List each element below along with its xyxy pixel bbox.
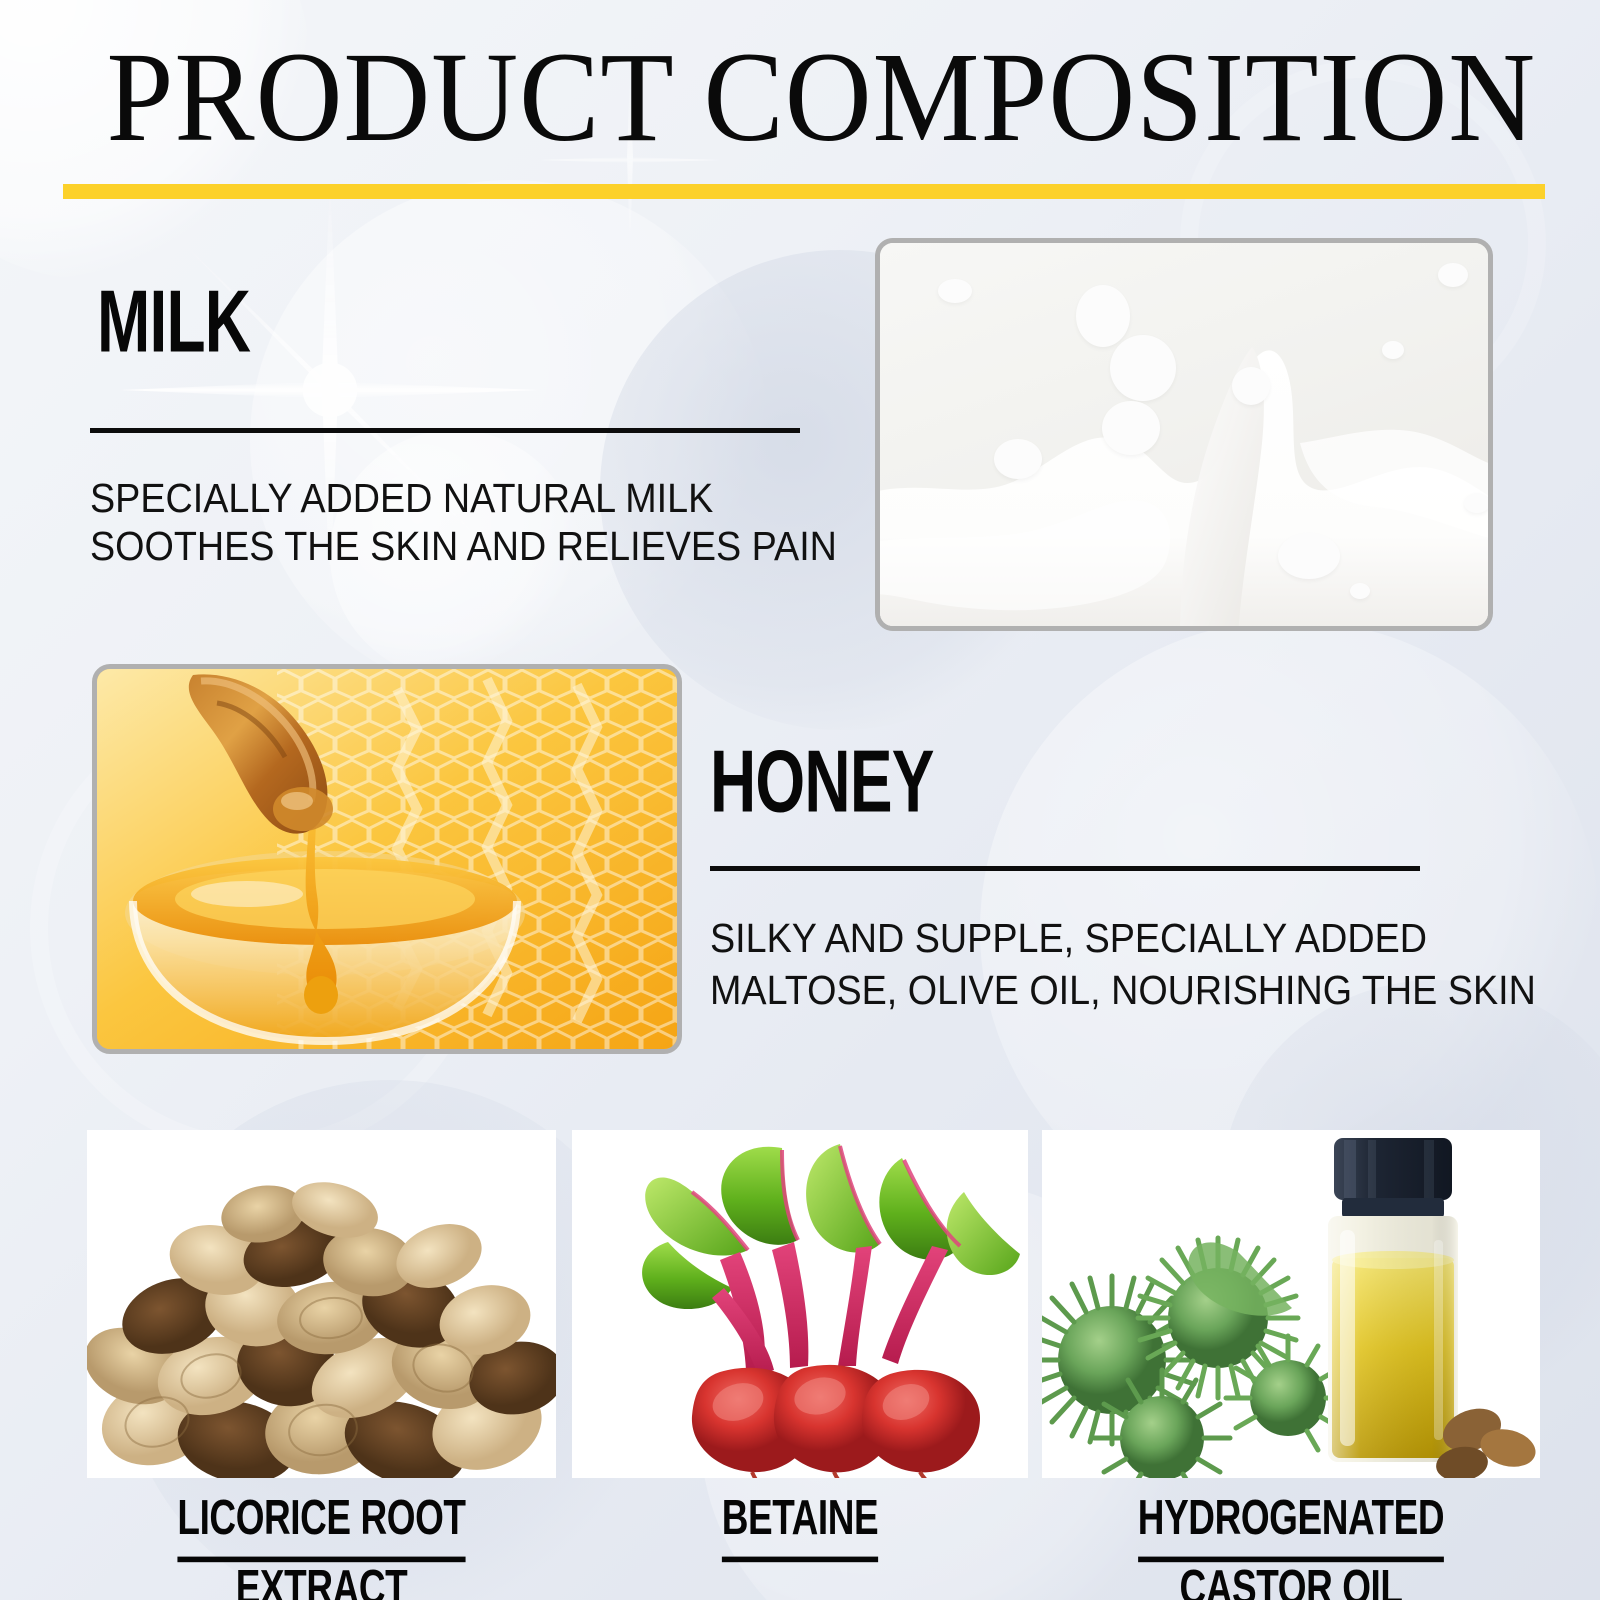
milk-image-card — [875, 238, 1493, 631]
honey-description-line: MALTOSE, OLIVE OIL, NOURISHING THE SKIN — [710, 964, 1536, 1016]
castor-caption: HYDROGENATED CASTOR OIL — [1042, 1488, 1540, 1600]
milk-description-line: SPECIALLY ADDED NATURAL MILK — [90, 474, 837, 522]
castor-oil-photo — [1042, 1130, 1540, 1478]
milk-divider — [90, 428, 800, 433]
licorice-root-photo — [87, 1130, 556, 1478]
caption-line: CASTOR OIL — [1082, 1554, 1500, 1600]
milk-splash-photo — [880, 243, 1488, 626]
honey-heading: HONEY — [710, 738, 934, 826]
honey-divider — [710, 866, 1420, 871]
milk-description: SPECIALLY ADDED NATURAL MILK SOOTHES THE… — [90, 474, 837, 570]
caption-line: EXTRACT — [125, 1554, 519, 1600]
product-composition-poster: PRODUCT COMPOSITION MILK SPECIALLY ADDED… — [0, 0, 1600, 1600]
honey-description-line: SILKY AND SUPPLE, SPECIALLY ADDED — [710, 912, 1536, 964]
honey-dipper-bowl-photo — [97, 669, 677, 1049]
caption-line: LICORICE ROOT — [125, 1484, 519, 1562]
title-accent-bar — [63, 184, 1545, 199]
betaine-caption: BETAINE — [572, 1488, 1028, 1558]
beetroot-photo — [572, 1130, 1028, 1478]
milk-description-line: SOOTHES THE SKIN AND RELIEVES PAIN — [90, 522, 837, 570]
bokeh-circle — [250, 180, 770, 700]
page-title: PRODUCT COMPOSITION — [107, 38, 1502, 156]
honey-image-card — [92, 664, 682, 1054]
licorice-caption: LICORICE ROOT EXTRACT — [87, 1488, 556, 1600]
caption-line: HYDROGENATED — [1082, 1484, 1500, 1562]
honey-description: SILKY AND SUPPLE, SPECIALLY ADDED MALTOS… — [710, 912, 1536, 1016]
caption-line: BETAINE — [608, 1484, 991, 1562]
milk-heading: MILK — [97, 278, 250, 366]
